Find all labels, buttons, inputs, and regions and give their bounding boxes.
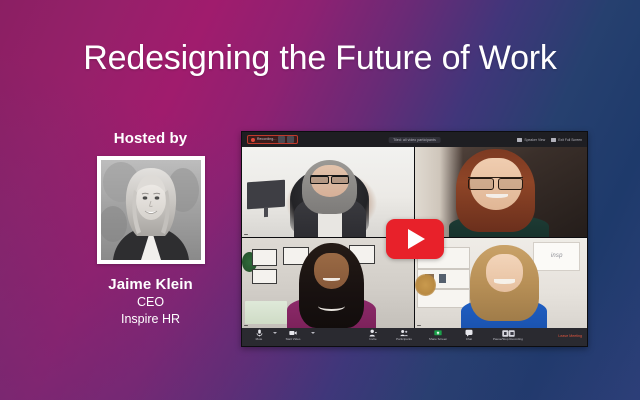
wall-sign: insp [533, 242, 580, 271]
exit-fullscreen-icon [551, 138, 556, 142]
invite-person-icon [369, 329, 377, 337]
recording-indicator[interactable]: Recording... [247, 135, 298, 144]
participant-face [486, 254, 524, 292]
participant-smile [494, 279, 515, 284]
topbar-right-controls: Speaker View Exit Full Screen [517, 138, 582, 142]
mute-button[interactable]: Mute [246, 329, 272, 340]
speaker-view-button[interactable]: Speaker View [517, 138, 545, 142]
speaker-view-icon [517, 138, 522, 142]
invite-button[interactable]: Invite [360, 329, 386, 340]
leave-meeting-button[interactable]: Leave Meeting [558, 334, 582, 338]
chat-button[interactable]: Chat [456, 329, 482, 340]
host-company: Inspire HR [58, 311, 243, 328]
monitor-prop [247, 180, 285, 210]
participants-label: Participants [396, 338, 412, 341]
book-prop [439, 274, 446, 283]
avatar-frame [97, 156, 205, 264]
start-video-button[interactable]: Start Video [280, 329, 306, 340]
pause-icon[interactable] [278, 136, 285, 143]
participant-name-label [244, 325, 248, 326]
participants-icon [400, 329, 408, 337]
avatar [101, 160, 201, 260]
shelf-prop [245, 301, 286, 324]
record-dot-icon [251, 138, 255, 142]
speaker-view-label: Speaker View [524, 138, 545, 142]
participant-name-label [244, 234, 248, 235]
zoom-toolbar: Mute Start Video Invite Partic [242, 328, 587, 346]
wall-frame-prop [252, 249, 276, 266]
view-mode-label: Tiled: all video participants [393, 138, 436, 142]
invite-label: Invite [369, 338, 376, 341]
hosted-by-label: Hosted by [58, 130, 243, 147]
host-block: Hosted by [58, 130, 243, 328]
exit-fullscreen-button[interactable]: Exit Full Screen [551, 138, 582, 142]
recording-label: Recording... [257, 138, 276, 141]
view-mode-chip[interactable]: Tiled: all video participants [388, 137, 441, 143]
glasses-icon [468, 177, 523, 189]
video-chevron-down-icon[interactable] [311, 332, 315, 334]
share-screen-button[interactable]: Share Screen [425, 329, 451, 340]
record-button[interactable]: Pause/Stop Recording [486, 329, 530, 340]
presentation-slide: Redesigning the Future of Work Hosted by [0, 0, 640, 400]
record-label: Pause/Stop Recording [493, 338, 523, 341]
camera-icon [289, 329, 297, 337]
exit-fullscreen-label: Exit Full Screen [558, 138, 582, 142]
host-name: Jaime Klein [58, 276, 243, 293]
headshot-photo-icon [101, 160, 201, 260]
stop-icon[interactable] [287, 136, 294, 143]
participants-button[interactable]: Participants [391, 329, 417, 340]
wall-frame-prop [252, 269, 276, 285]
play-triangle-icon [408, 229, 425, 249]
share-screen-label: Share Screen [429, 338, 447, 341]
video-player[interactable]: Recording... Tiled: all video participan… [241, 131, 588, 347]
microphone-icon [255, 329, 263, 337]
host-role: CEO [58, 294, 243, 311]
zoom-topbar: Recording... Tiled: all video participan… [242, 132, 587, 147]
wall-sign-text: insp [551, 253, 563, 259]
participant-name-label [417, 325, 421, 326]
page-title: Redesigning the Future of Work [0, 40, 640, 77]
glasses-icon [310, 175, 350, 182]
mute-label: Mute [256, 338, 263, 341]
chat-bubble-icon [465, 329, 473, 337]
plant-prop [415, 274, 436, 296]
share-screen-icon [434, 329, 442, 337]
mute-chevron-down-icon[interactable] [273, 332, 277, 334]
record-controls-icon [502, 329, 515, 337]
participant-face [314, 253, 348, 289]
chat-label: Chat [466, 338, 472, 341]
start-video-label: Start Video [286, 338, 301, 341]
play-button[interactable] [386, 219, 444, 259]
